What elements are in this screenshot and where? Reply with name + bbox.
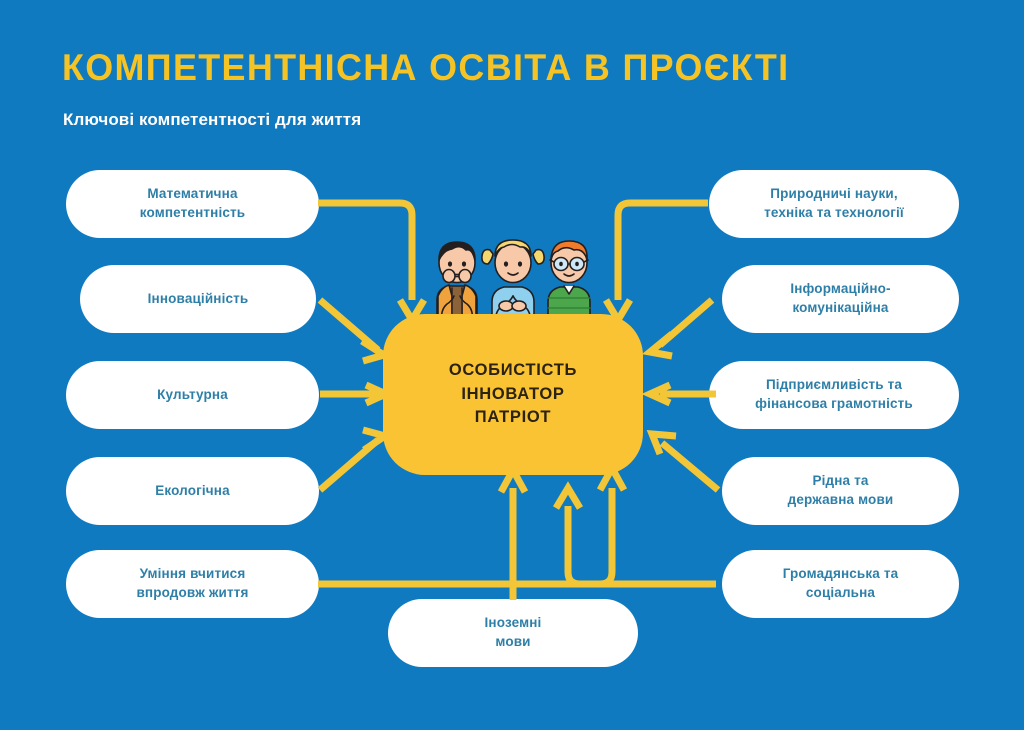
arrow-entrepreneurship-finance	[650, 385, 716, 403]
pill-line-1: Іноземні	[485, 614, 542, 633]
competency-label: Громадянська та соціальна	[783, 565, 899, 602]
pill-line-1: Громадянська та	[783, 565, 899, 584]
competency-label: Інформаційно- комунікаційна	[790, 280, 890, 317]
pill-line-2: компетентність	[140, 204, 245, 223]
infographic-canvas: КОМПЕТЕНТНІСНА ОСВІТА В ПРОЄКТІ Ключові …	[0, 0, 1024, 730]
arrow-natural-sciences	[606, 203, 708, 320]
pill-line-1: Екологічна	[155, 482, 230, 501]
pill-line-1: Культурна	[157, 386, 228, 405]
competency-pill-ecological[interactable]: Екологічна	[66, 457, 319, 525]
pill-line-1: Інноваційність	[148, 290, 249, 309]
arrow-innovation	[320, 300, 384, 361]
center-line-2: ІННОВАТОР	[449, 383, 577, 406]
competency-pill-innovation[interactable]: Інноваційність	[80, 265, 316, 333]
arrow-cultural	[320, 385, 386, 403]
arrow-foreign-languages	[501, 470, 525, 600]
competency-label: Рідна та державна мови	[788, 472, 894, 509]
competency-pill-native-state-languages[interactable]: Рідна та державна мови	[722, 457, 959, 525]
center-node-label: ОСОБИСТІСТЬ ІННОВАТОР ПАТРІОТ	[449, 359, 577, 429]
competency-pill-lifelong-learning[interactable]: Уміння вчитися впродовж життя	[66, 550, 319, 618]
pill-line-2: державна мови	[788, 491, 894, 510]
arrow-mathematical	[318, 203, 424, 320]
page-subtitle: Ключові компетентності для життя	[63, 110, 361, 130]
pill-line-2: фінансова грамотність	[755, 395, 913, 414]
pill-line-1: Математична	[140, 185, 245, 204]
competency-label: Екологічна	[155, 482, 230, 501]
center-line-3: ПАТРІОТ	[449, 406, 577, 429]
pill-line-2: техніка та технології	[764, 204, 904, 223]
competency-label: Інноваційність	[148, 290, 249, 309]
competency-label: Математична компетентність	[140, 185, 245, 222]
competency-pill-foreign-languages[interactable]: Іноземні мови	[388, 599, 638, 667]
pill-line-1: Інформаційно-	[790, 280, 890, 299]
competency-pill-natural-sciences[interactable]: Природничі науки, техніка та технології	[709, 170, 959, 238]
competency-label: Іноземні мови	[485, 614, 542, 651]
competency-label: Уміння вчитися впродовж життя	[136, 565, 248, 602]
pill-line-2: соціальна	[783, 584, 899, 603]
competency-label: Культурна	[157, 386, 228, 405]
pill-line-2: мови	[485, 633, 542, 652]
pill-line-1: Рідна та	[788, 472, 894, 491]
arrow-native-state-languages	[652, 434, 718, 490]
competency-pill-mathematical[interactable]: Математична компетентність	[66, 170, 319, 238]
arrow-civic-social	[556, 488, 716, 584]
competency-pill-information-communication[interactable]: Інформаційно- комунікаційна	[722, 265, 959, 333]
arrow-lifelong-learning	[318, 468, 624, 584]
pill-line-2: впродовж життя	[136, 584, 248, 603]
competency-pill-civic-social[interactable]: Громадянська та соціальна	[722, 550, 959, 618]
competency-pill-entrepreneurship-finance[interactable]: Підприємливість та фінансова грамотність	[709, 361, 959, 429]
arrow-information-communication	[650, 300, 712, 356]
pill-line-1: Природничі науки,	[764, 185, 904, 204]
center-node[interactable]: ОСОБИСТІСТЬ ІННОВАТОР ПАТРІОТ	[383, 314, 643, 475]
page-title: КОМПЕТЕНТНІСНА ОСВІТА В ПРОЄКТІ	[62, 47, 789, 89]
pill-line-1: Підприємливість та	[755, 376, 913, 395]
arrow-ecological	[320, 430, 385, 490]
competency-pill-cultural[interactable]: Культурна	[66, 361, 319, 429]
pill-line-1: Уміння вчитися	[136, 565, 248, 584]
center-line-1: ОСОБИСТІСТЬ	[449, 359, 577, 382]
three-children-illustration	[422, 226, 607, 326]
pill-line-2: комунікаційна	[790, 299, 890, 318]
competency-label: Природничі науки, техніка та технології	[764, 185, 904, 222]
competency-label: Підприємливість та фінансова грамотність	[755, 376, 913, 413]
